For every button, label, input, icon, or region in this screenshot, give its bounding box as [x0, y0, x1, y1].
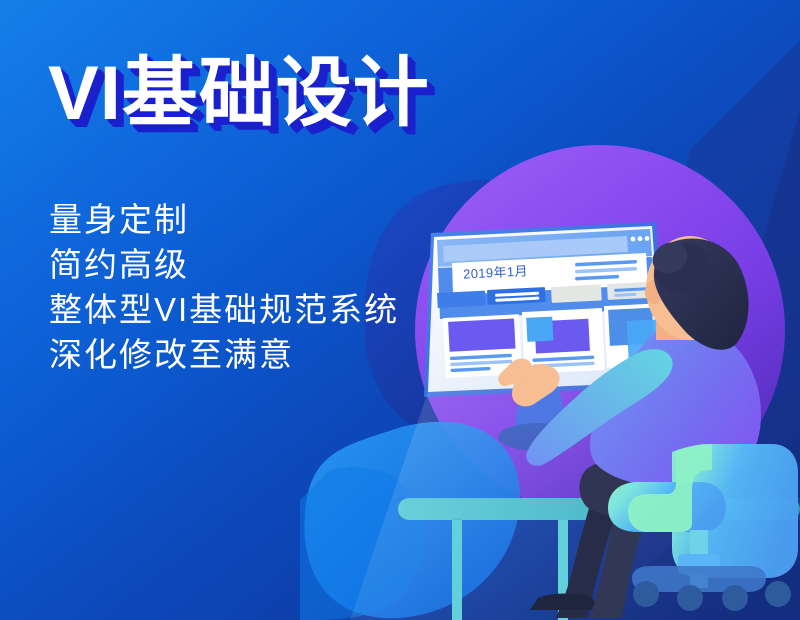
- illustration-canvas: [0, 0, 800, 620]
- content-card-center: [522, 308, 605, 374]
- window-dots: [631, 236, 650, 241]
- banner-root: VI基础设计 量身定制 简约高级 整体型VI基础规范系统 深化修改至满意 201…: [0, 0, 800, 620]
- desk-leg-left: [452, 518, 462, 620]
- url-field-text: 2019年1月: [463, 260, 529, 282]
